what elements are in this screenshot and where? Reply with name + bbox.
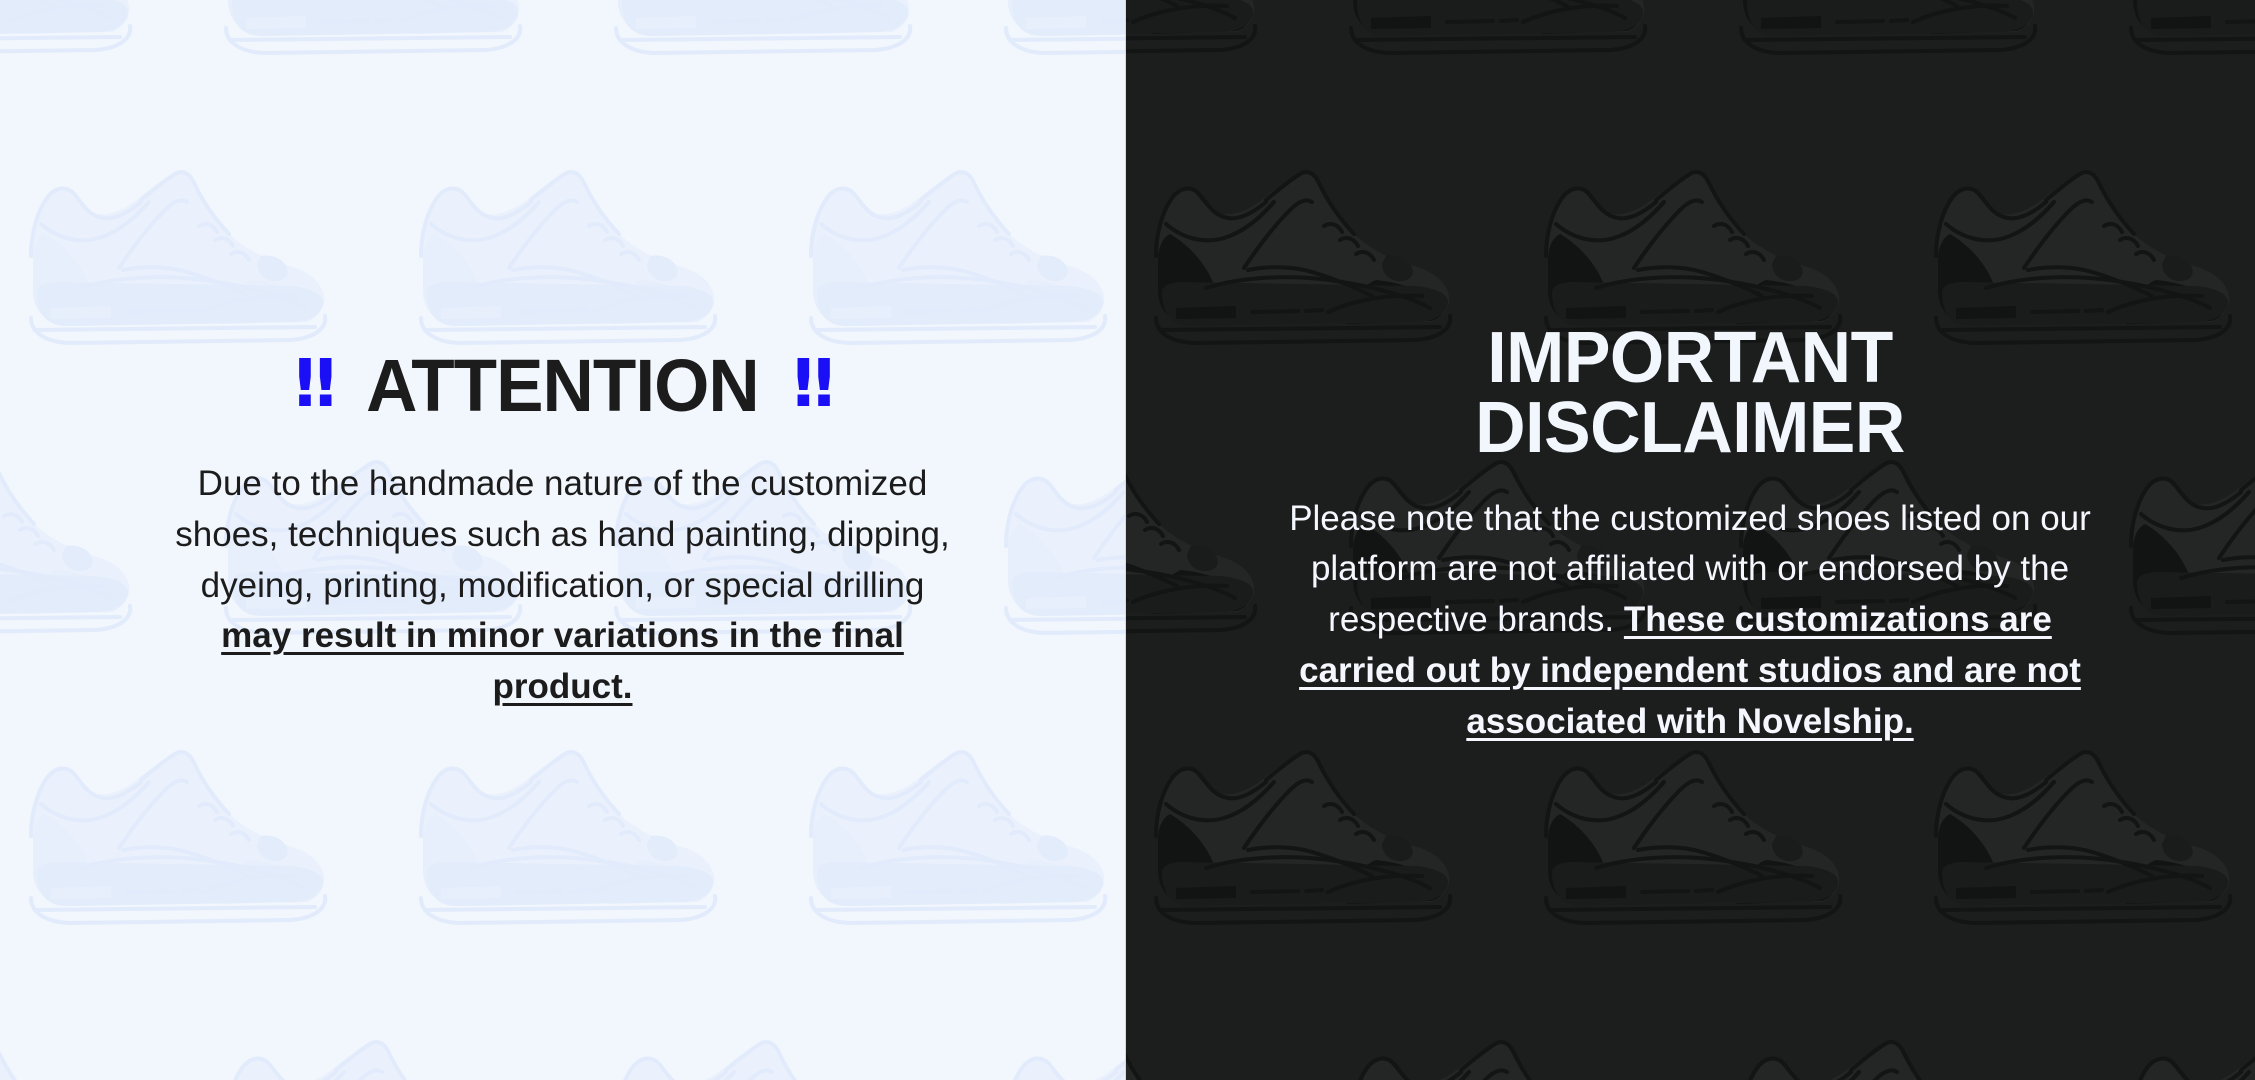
sneaker-icon [0,0,210,140]
sneaker-icon [990,430,1125,720]
sneaker-icon [1140,720,1530,1010]
pattern-row [0,720,1125,1010]
sneaker-icon [795,720,1125,1010]
sneaker-icon [1530,720,1920,1010]
sneaker-icon [2115,0,2255,140]
sneaker-icon [990,1010,1125,1080]
sneaker-icon [210,1010,600,1080]
sneaker-icon [0,720,15,1010]
sneaker-icon [600,1010,990,1080]
pattern-row [0,1010,1125,1080]
pattern-row [1125,720,2255,1010]
sneaker-icon [2115,1010,2255,1080]
disclaimer-heading-line-1: IMPORTANT [1283,323,2098,394]
disclaimer-heading: IMPORTANT DISCLAIMER [1283,323,2098,464]
attention-panel: ‼ ATTENTION ‼ Due to the handmade nature… [0,0,1125,1080]
sneaker-icon [0,1010,210,1080]
pattern-row [1125,0,2255,140]
sneaker-icon [210,0,600,140]
disclaimer-banner: ‼ ATTENTION ‼ Due to the handmade nature… [0,0,2255,1080]
sneaker-icon [1125,1010,1335,1080]
sneaker-icon [1335,0,1725,140]
attention-body-normal: Due to the handmade nature of the custom… [175,464,949,605]
sneaker-icon [0,140,15,430]
sneaker-icon [1335,1010,1725,1080]
sneaker-icon [1920,720,2255,1010]
sneaker-icon [1725,1010,2115,1080]
sneaker-icon [1125,720,1140,1010]
attention-content: ‼ ATTENTION ‼ Due to the handmade nature… [163,349,963,713]
pattern-row [0,0,1125,140]
sneaker-icon [2115,430,2255,720]
sneaker-icon [1725,0,2115,140]
sneaker-icon [1125,140,1140,430]
double-exclamation-icon-left: ‼ [295,351,332,417]
disclaimer-panel: IMPORTANT DISCLAIMER Please note that th… [1125,0,2255,1080]
disclaimer-body: Please note that the customized shoes li… [1270,494,2110,748]
attention-body-emphasis: may result in minor variations in the fi… [221,616,904,706]
sneaker-icon [990,0,1125,140]
disclaimer-content: IMPORTANT DISCLAIMER Please note that th… [1270,323,2110,748]
panel-divider [1125,0,1126,1080]
disclaimer-heading-line-2: DISCLAIMER [1283,393,2098,464]
sneaker-icon [15,720,405,1010]
pattern-row [1125,1010,2255,1080]
attention-heading: ‼ ATTENTION ‼ [163,349,963,423]
double-exclamation-icon-right: ‼ [793,351,830,417]
sneaker-icon [1125,0,1335,140]
attention-heading-word: ATTENTION [366,349,759,423]
attention-body: Due to the handmade nature of the custom… [163,459,963,713]
sneaker-icon [600,0,990,140]
sneaker-icon [405,720,795,1010]
